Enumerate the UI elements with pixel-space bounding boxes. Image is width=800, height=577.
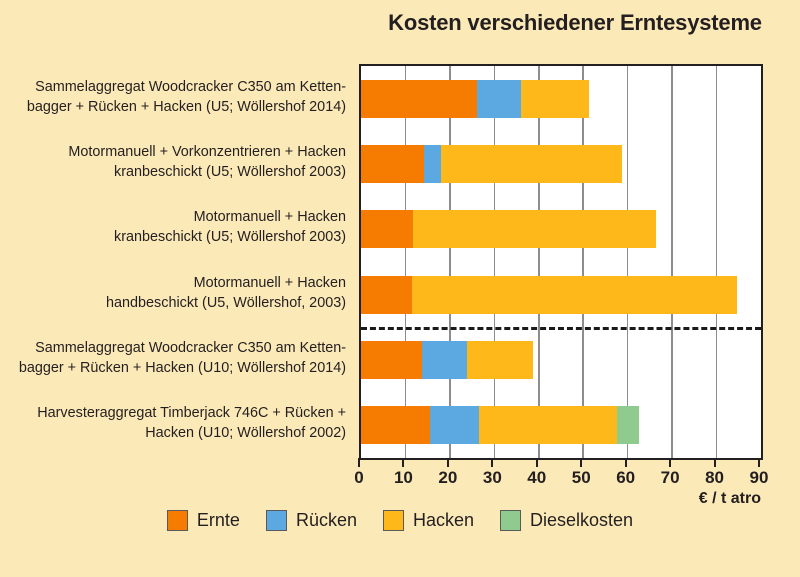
bar-row[interactable]	[361, 145, 761, 183]
bar-segment-hacken[interactable]	[521, 80, 589, 118]
bar-segment-ernte[interactable]	[361, 210, 413, 248]
category-label-line: Hacken (U10; Wöllershof 2002)	[4, 423, 346, 443]
bar-segment-ernte[interactable]	[361, 406, 430, 444]
category-label: Motormanuell + Vorkonzentrieren + Hacken…	[4, 142, 352, 182]
bar-segment-dieselkosten[interactable]	[617, 406, 639, 444]
x-tick-mark-20	[447, 458, 449, 467]
legend-item-rücken[interactable]: Rücken	[266, 510, 357, 531]
bar-row[interactable]	[361, 210, 761, 248]
legend-label: Hacken	[413, 510, 474, 531]
legend-swatch-icon	[167, 510, 188, 531]
legend-label: Rücken	[296, 510, 357, 531]
legend-swatch-icon	[383, 510, 404, 531]
category-label: Harvesteraggregat Timberjack 746C + Rück…	[4, 403, 352, 443]
category-label-line: bagger + Rücken + Hacken (U10; Wöllersho…	[4, 358, 346, 378]
plot-area	[359, 64, 763, 460]
bar-row[interactable]	[361, 406, 761, 444]
bar-segment-rücken[interactable]	[477, 80, 521, 118]
legend-item-hacken[interactable]: Hacken	[383, 510, 474, 531]
x-tick-mark-80	[714, 458, 716, 467]
x-tick-label-40: 40	[517, 468, 557, 488]
legend-swatch-icon	[266, 510, 287, 531]
category-label-line: Motormanuell + Hacken	[4, 273, 346, 293]
x-tick-label-80: 80	[695, 468, 735, 488]
bar-row[interactable]	[361, 80, 761, 118]
category-label-line: Motormanuell + Hacken	[4, 207, 346, 227]
category-label-line: Sammelaggregat Woodcracker C350 am Kette…	[4, 77, 346, 97]
legend-label: Dieselkosten	[530, 510, 633, 531]
x-tick-mark-60	[625, 458, 627, 467]
category-label-line: Sammelaggregat Woodcracker C350 am Kette…	[4, 338, 346, 358]
bar-segment-hacken[interactable]	[412, 276, 737, 314]
bar-row[interactable]	[361, 276, 761, 314]
x-tick-label-10: 10	[383, 468, 423, 488]
category-label-line: kranbeschickt (U5; Wöllershof 2003)	[4, 227, 346, 247]
category-label-line: handbeschickt (U5, Wöllershof, 2003)	[4, 293, 346, 313]
x-tick-label-90: 90	[739, 468, 779, 488]
category-label: Sammelaggregat Woodcracker C350 am Kette…	[4, 338, 352, 378]
bar-segment-ernte[interactable]	[361, 276, 412, 314]
group-separator-dashed-line	[361, 327, 761, 330]
x-tick-mark-90	[758, 458, 760, 467]
category-label-line: Harvesteraggregat Timberjack 746C + Rück…	[4, 403, 346, 423]
legend-label: Ernte	[197, 510, 240, 531]
bar-segment-rücken[interactable]	[424, 145, 441, 183]
x-tick-mark-10	[402, 458, 404, 467]
category-label: Motormanuell + Hackenkranbeschickt (U5; …	[4, 207, 352, 247]
category-label-line: kranbeschickt (U5; Wöllershof 2003)	[4, 162, 346, 182]
legend-item-ernte[interactable]: Ernte	[167, 510, 240, 531]
bar-row[interactable]	[361, 341, 761, 379]
bar-segment-hacken[interactable]	[441, 145, 622, 183]
bar-segment-hacken[interactable]	[413, 210, 656, 248]
bar-segment-rücken[interactable]	[422, 341, 467, 379]
x-tick-mark-0	[358, 458, 360, 467]
category-label-line: Motormanuell + Vorkonzentrieren + Hacken	[4, 142, 346, 162]
category-axis-labels: Sammelaggregat Woodcracker C350 am Kette…	[4, 64, 352, 456]
bar-segment-hacken[interactable]	[479, 406, 617, 444]
x-tick-mark-70	[669, 458, 671, 467]
chart-legend: ErnteRückenHackenDieselkosten	[0, 510, 800, 531]
legend-item-dieselkosten[interactable]: Dieselkosten	[500, 510, 633, 531]
bar-segment-ernte[interactable]	[361, 145, 424, 183]
x-tick-mark-40	[536, 458, 538, 467]
chart-title: Kosten verschiedener Erntesysteme	[360, 10, 790, 36]
x-tick-label-20: 20	[428, 468, 468, 488]
category-label: Sammelaggregat Woodcracker C350 am Kette…	[4, 77, 352, 117]
bar-segment-hacken[interactable]	[467, 341, 533, 379]
x-tick-label-0: 0	[339, 468, 379, 488]
chart-figure: Kosten verschiedener Erntesysteme Sammel…	[0, 0, 800, 577]
bar-series-container	[361, 66, 761, 458]
x-tick-label-70: 70	[650, 468, 690, 488]
x-tick-label-50: 50	[561, 468, 601, 488]
x-tick-mark-50	[580, 458, 582, 467]
x-tick-label-60: 60	[606, 468, 646, 488]
category-label: Motormanuell + Hackenhandbeschickt (U5, …	[4, 273, 352, 313]
category-label-line: bagger + Rücken + Hacken (U5; Wöllershof…	[4, 97, 346, 117]
bar-segment-ernte[interactable]	[361, 341, 422, 379]
bar-segment-rücken[interactable]	[430, 406, 479, 444]
x-tick-mark-30	[491, 458, 493, 467]
x-tick-label-30: 30	[472, 468, 512, 488]
legend-swatch-icon	[500, 510, 521, 531]
bar-segment-ernte[interactable]	[361, 80, 477, 118]
x-axis-unit-label: € / t atro	[699, 490, 761, 508]
x-axis: € / t atro 0102030405060708090	[359, 458, 759, 504]
